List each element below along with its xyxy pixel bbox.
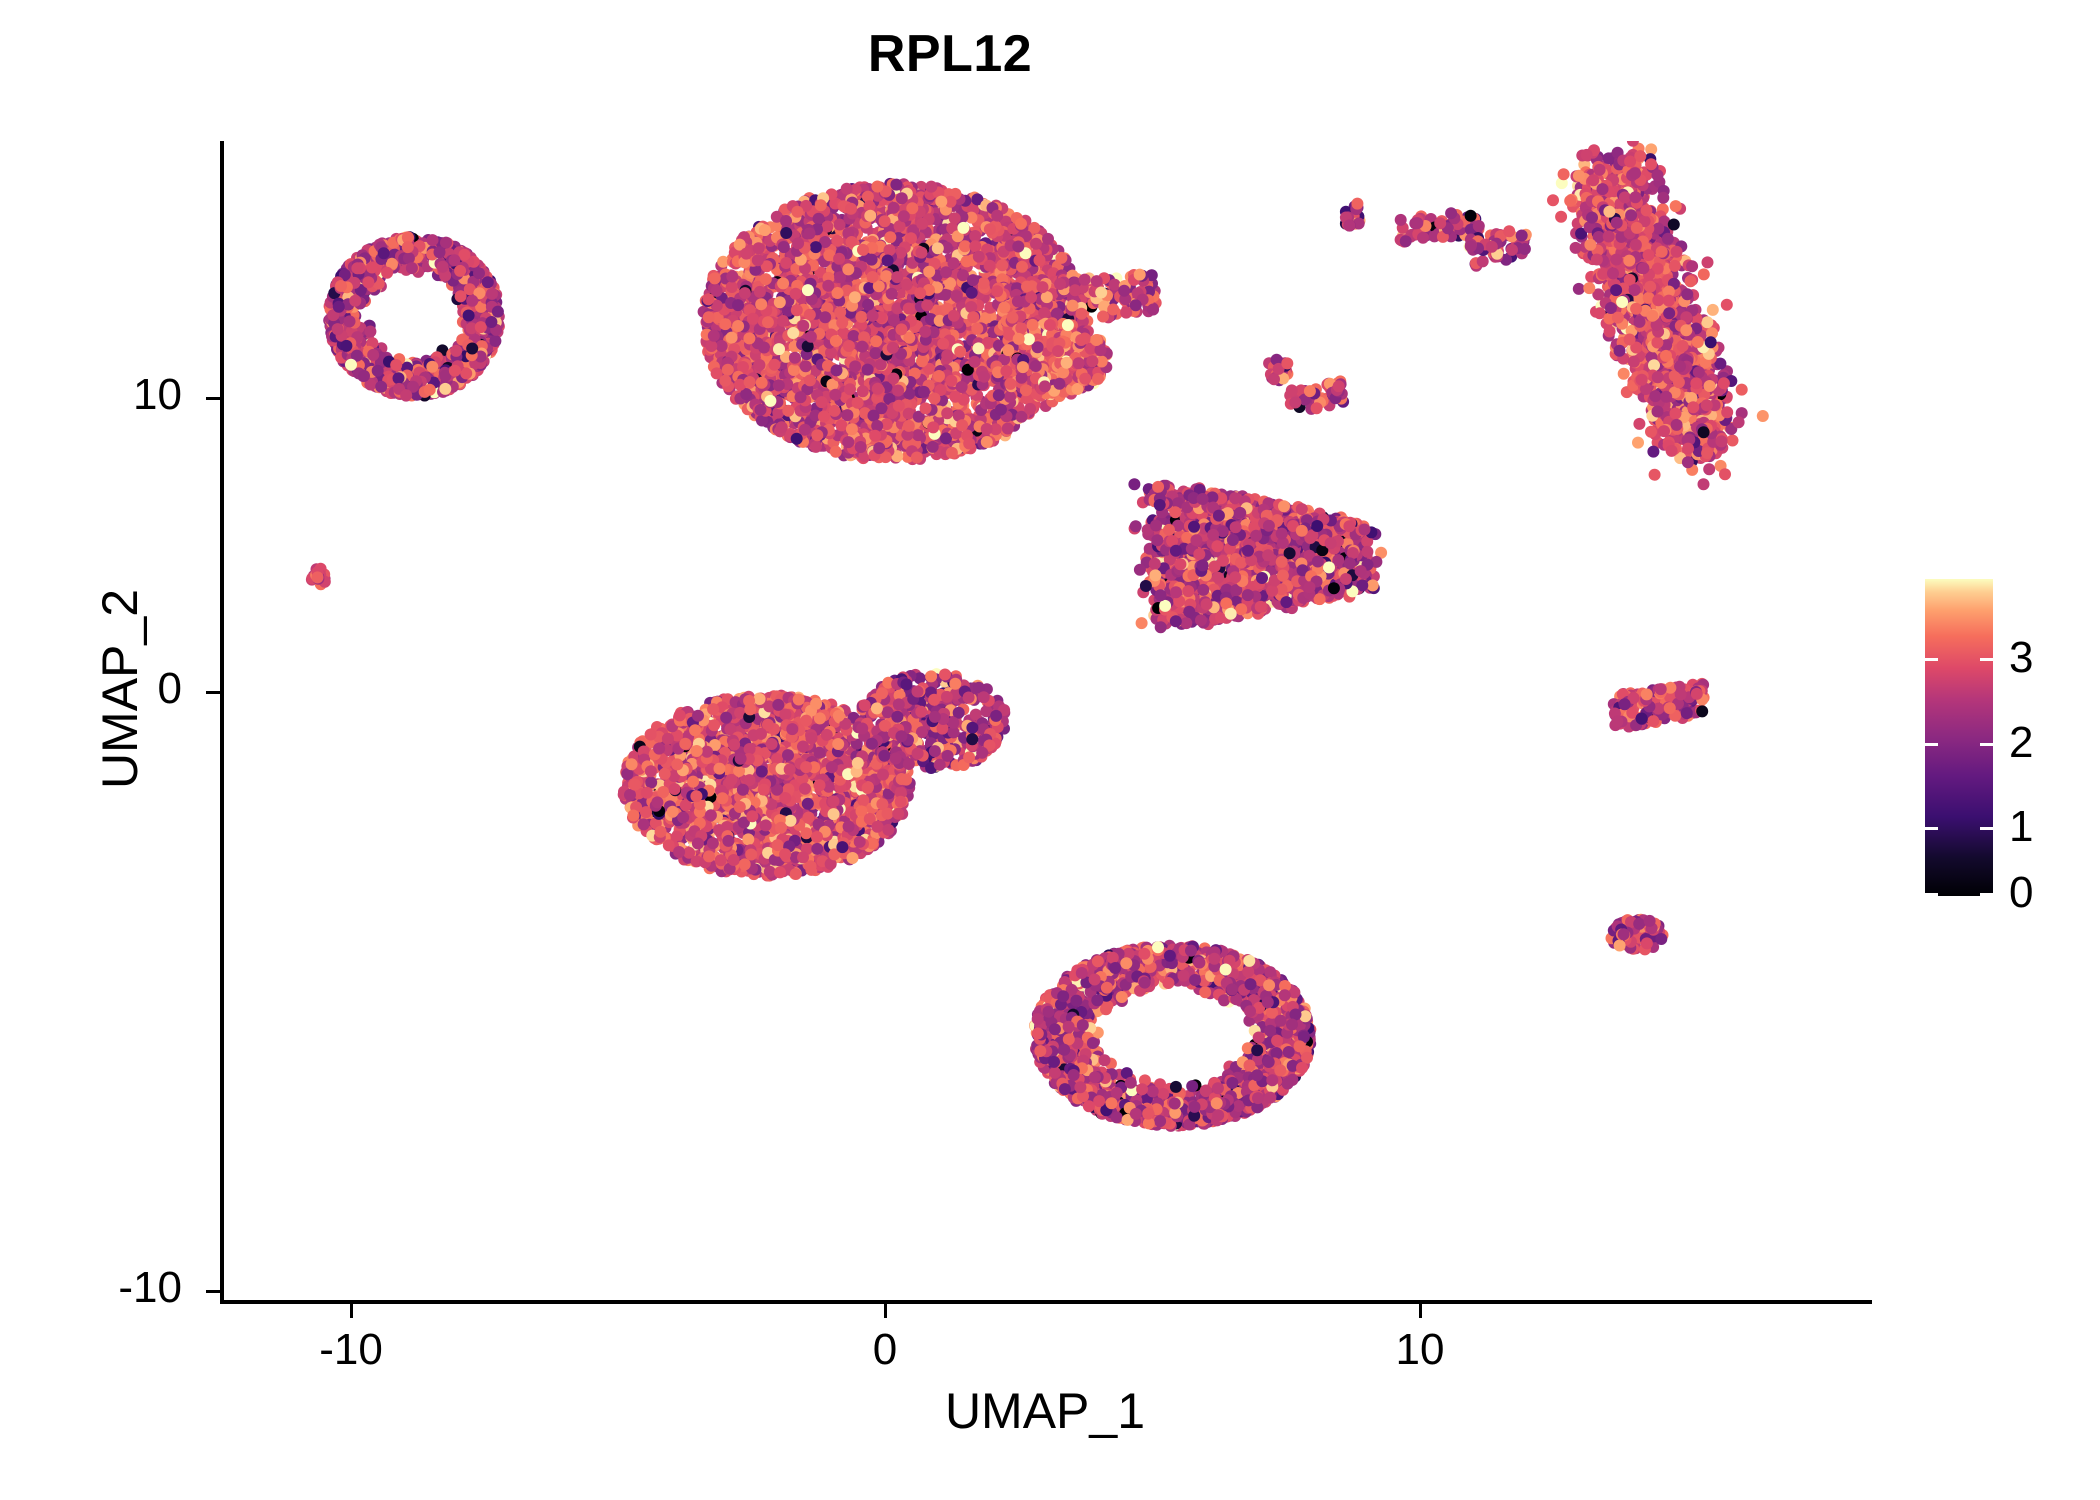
- x-tick-10: [1419, 1304, 1422, 1318]
- y-tick-neg10: [206, 1290, 220, 1293]
- plot-panel: [222, 141, 1872, 1302]
- colorbar-label-3: 3: [2009, 633, 2033, 683]
- y-ticklabel-neg10-holder: -10: [0, 1263, 182, 1313]
- x-ticklabel-neg10-holder: -10: [201, 1325, 501, 1375]
- x-ticklabel-0-holder: 0: [735, 1325, 1035, 1375]
- x-ticklabel-neg10: -10: [319, 1325, 383, 1374]
- x-axis-line: [220, 1300, 1872, 1304]
- colorbar-tick-2-right: [1980, 743, 1993, 746]
- colorbar-label-2: 2: [2009, 718, 2033, 768]
- scatter-points-layer: [222, 141, 1872, 1302]
- y-ticklabel-0: 0: [158, 664, 182, 713]
- colorbar-tick-1-left: [1925, 827, 1938, 830]
- colorbar-tick-0-left: [1925, 893, 1938, 896]
- colorbar-legend: 3 2 1 0: [1925, 579, 1993, 896]
- x-axis-title: UMAP_1: [745, 1382, 1345, 1440]
- colorbar-tick-2-left: [1925, 743, 1938, 746]
- x-ticklabel-0: 0: [873, 1325, 897, 1374]
- feature-plot: RPL12 10 0 -10 -10 0 10 UMAP_2 UMAP_1 3: [0, 0, 2100, 1500]
- y-ticklabel-neg10: -10: [118, 1263, 182, 1312]
- y-tick-0: [206, 691, 220, 694]
- colorbar-label-1: 1: [2009, 802, 2033, 852]
- x-ticklabel-10-holder: 10: [1270, 1325, 1570, 1375]
- x-tick-0: [884, 1304, 887, 1318]
- colorbar-tick-3-right: [1980, 658, 1993, 661]
- page-title: RPL12: [0, 24, 1900, 84]
- colorbar-tick-0-right: [1980, 893, 1993, 896]
- colorbar-tick-1-right: [1980, 827, 1993, 830]
- colorbar-tick-3-left: [1925, 658, 1938, 661]
- colorbar-label-0: 0: [2009, 868, 2033, 918]
- x-tick-neg10: [350, 1304, 353, 1318]
- y-axis-line: [220, 141, 224, 1304]
- x-ticklabel-10: 10: [1396, 1325, 1445, 1374]
- y-axis-title: UMAP_2: [91, 389, 149, 989]
- colorbar-gradient: [1925, 579, 1993, 896]
- y-tick-10: [206, 397, 220, 400]
